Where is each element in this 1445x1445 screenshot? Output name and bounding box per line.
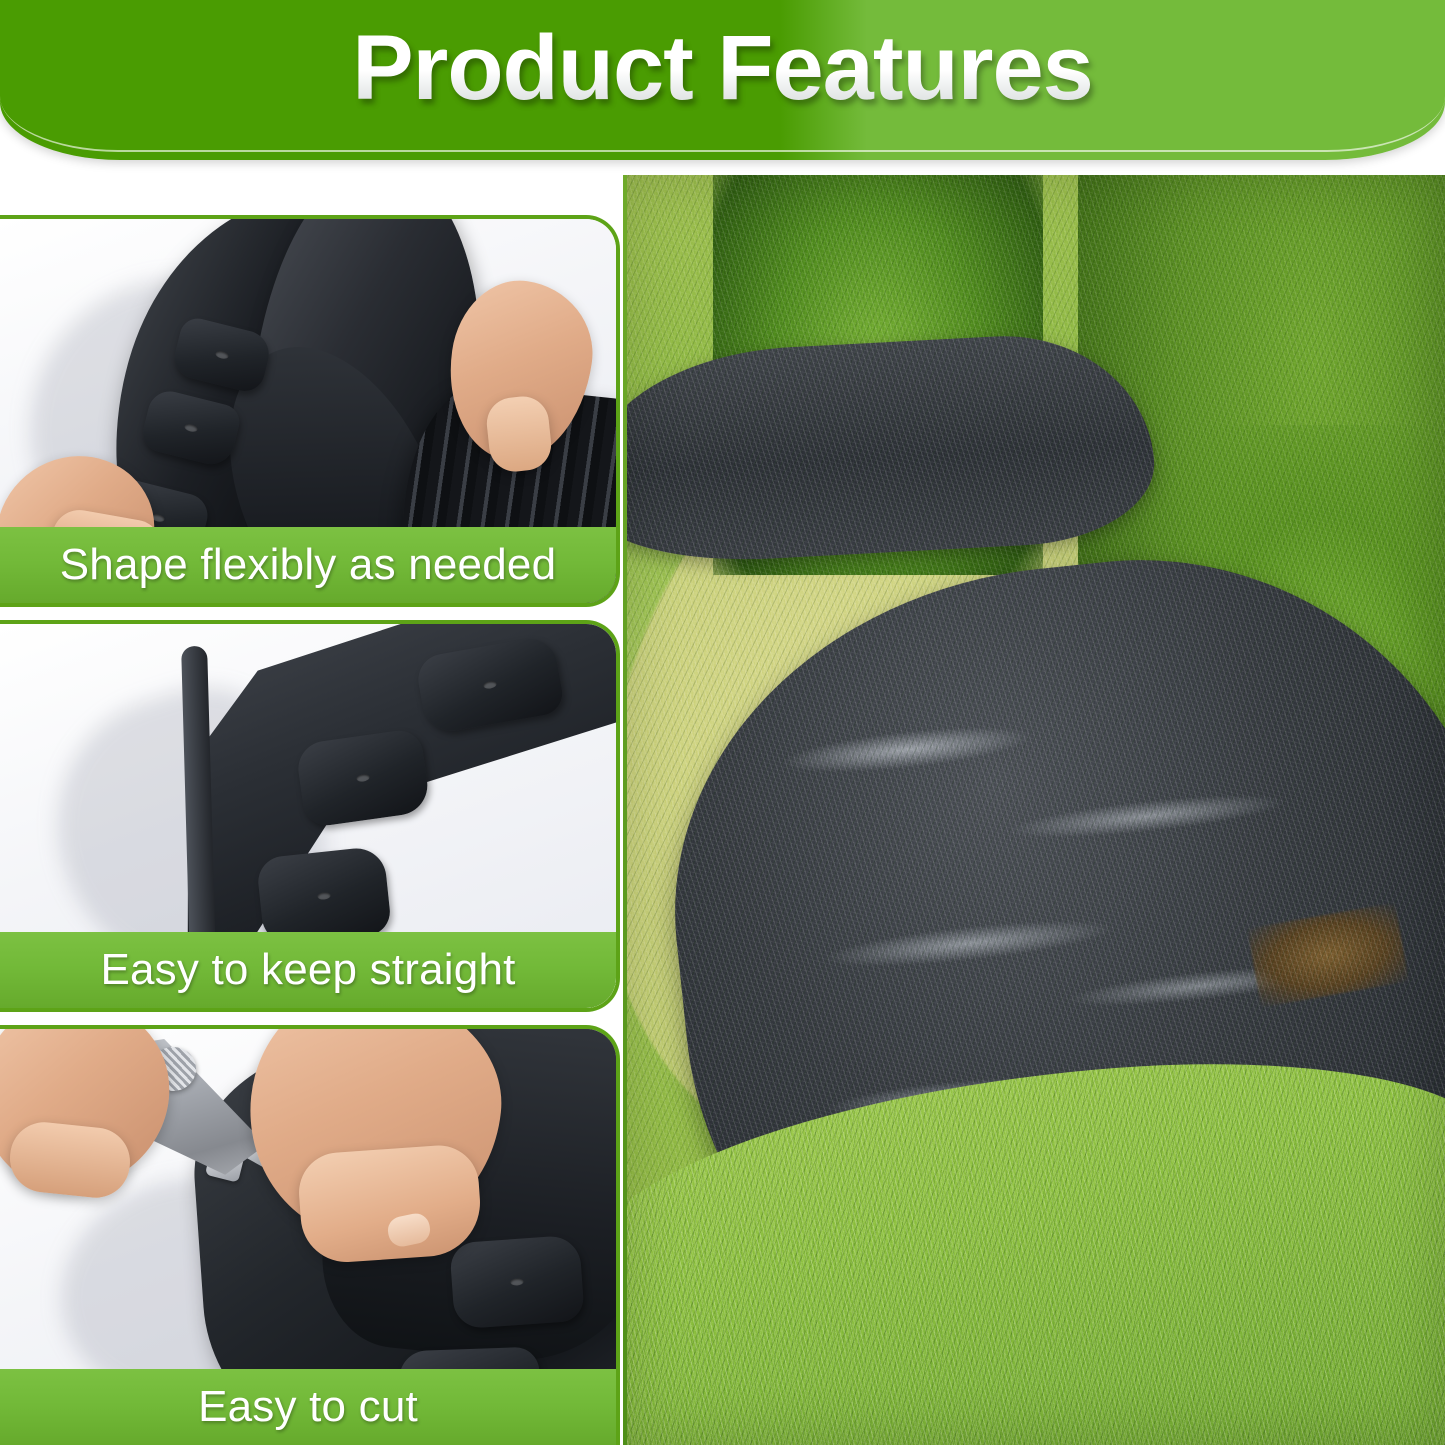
page-title: Product Features (0, 17, 1445, 120)
main-garden-photo (623, 175, 1445, 1445)
photo-vignette (623, 175, 1445, 1445)
right-hand-fingers (484, 394, 553, 474)
feature-caption-1: Shape flexibly as needed (0, 527, 616, 603)
feature-panel-3: Easy to cut (0, 1025, 620, 1445)
feature-caption-3: Easy to cut (0, 1369, 616, 1445)
stake-tab (449, 1235, 585, 1330)
photo-left-edge (623, 175, 627, 1445)
product-feature-graphic: Product Features Shape flexibly as neede… (0, 0, 1445, 1445)
right-hand-fingers (296, 1143, 483, 1265)
feature-panel-2: Easy to keep straight (0, 620, 620, 1012)
stake-tab (295, 728, 431, 829)
feature-panel-1: Shape flexibly as needed (0, 215, 620, 607)
feature-caption-2: Easy to keep straight (0, 932, 616, 1008)
